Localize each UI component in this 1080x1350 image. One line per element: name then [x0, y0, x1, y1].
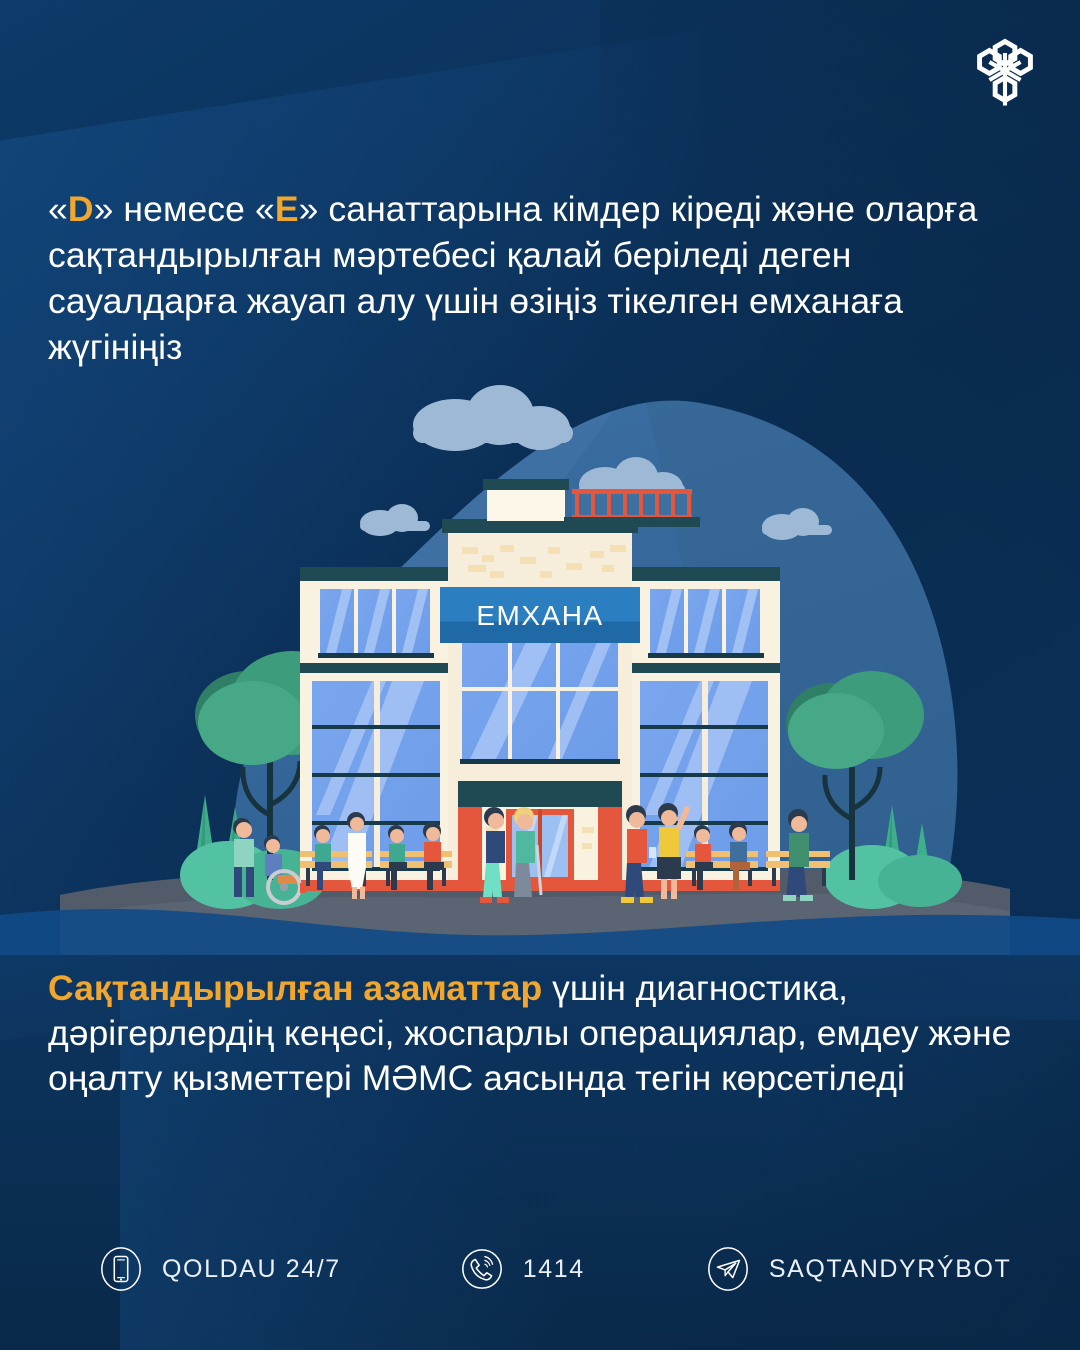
building-sign-label: ЕМХАНА [476, 600, 603, 631]
footer-item-telegram[interactable]: SAQTANDYRÝBOT [705, 1246, 1012, 1292]
footer-label-telegram: SAQTANDYRÝBOT [769, 1255, 1012, 1284]
right-wing-upper-windows [648, 589, 764, 658]
left-wing-curtainwall [312, 681, 440, 871]
left-wing-upper-windows [318, 589, 434, 658]
smartphone-icon [98, 1246, 144, 1292]
paragraph-accent: Сақтандырылған азаматтар [48, 968, 542, 1008]
footer-contacts: QOLDAU 24/7 1414 [0, 1234, 1080, 1304]
headline-text: «D» немесе «E» санаттарына кімдер кіреді… [48, 186, 1033, 370]
infographic-poster: «D» немесе «E» санаттарына кімдер кіреді… [0, 0, 1080, 1350]
headline-part-1: « [48, 189, 68, 229]
roof-rail [564, 489, 700, 527]
footer-item-qoldau[interactable]: QOLDAU 24/7 [98, 1246, 341, 1292]
clinic-illustration: ЕМХАНА [0, 375, 1080, 955]
footer-item-hotline[interactable]: 1414 [459, 1246, 585, 1292]
headline-accent-d: D [68, 189, 94, 229]
snowflake-hexagon-logo-icon [964, 30, 1046, 112]
headline-part-2: » немесе « [94, 189, 275, 229]
headline-accent-e: E [275, 189, 299, 229]
phone-ringing-icon [459, 1246, 505, 1292]
cloud-small-left [360, 504, 430, 536]
footer-label-qoldau: QOLDAU 24/7 [162, 1255, 341, 1284]
building-sign: ЕМХАНА [440, 587, 640, 643]
cloud-large [413, 385, 573, 451]
body-paragraph: Сақтандырылған азаматтар үшін диагностик… [48, 966, 1038, 1101]
footer-label-hotline: 1414 [523, 1255, 585, 1284]
telegram-plane-icon [705, 1246, 751, 1292]
